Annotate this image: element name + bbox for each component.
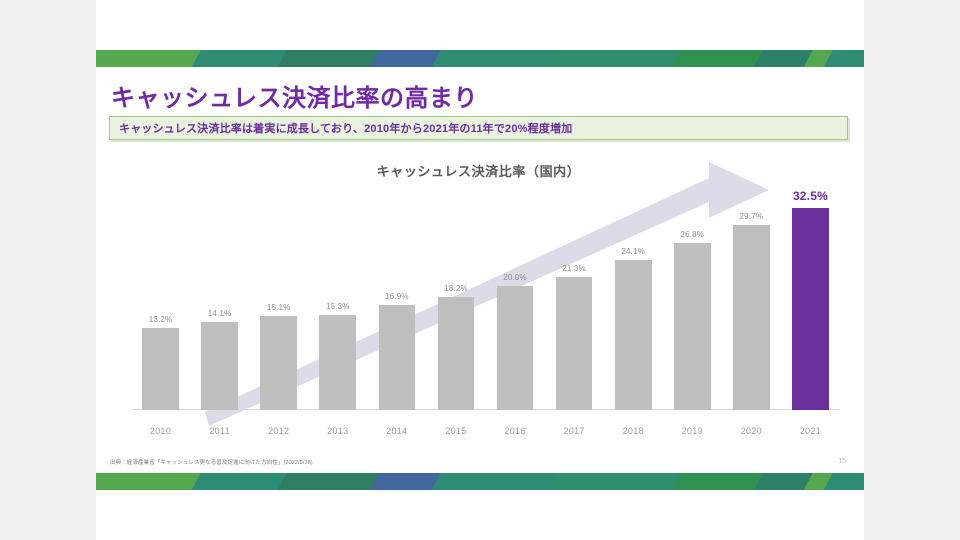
presentation-slide: キャッシュレス決済比率の高まり キャッシュレス決済比率は着実に成長しており、20… [96,0,864,540]
bar-value-label: 24.1% [621,247,645,256]
bar-rectangle [792,208,829,410]
bottom-decorative-banner [96,473,864,490]
x-axis-tick-label: 2021 [781,426,840,436]
chart-bar: 13.2% [142,158,179,410]
subtitle-callout-box: キャッシュレス決済比率は着実に成長しており、2010年から2021年の11年で2… [109,116,848,140]
chart-bar: 26.8% [674,158,711,410]
bar-value-label: 15.1% [267,303,291,312]
bar-rectangle [497,286,534,410]
banner-stripe [274,50,386,67]
x-axis-tick-label: 2011 [190,426,249,436]
chart-bar: 32.5% [792,158,829,410]
bar-value-label: 29.7% [740,212,764,221]
source-note: 出典：経済産業省「キャッシュレス更なる普及促進に向けた方向性」(2022/9/2… [110,458,313,466]
page-number: 15 [838,458,846,465]
bar-rectangle [201,322,238,410]
x-axis-tick-label: 2017 [545,426,604,436]
bar-rectangle [556,277,593,410]
bar-rectangle [379,305,416,410]
bar-rectangle [674,243,711,410]
chart-bar: 20.0% [497,158,534,410]
chart-bar: 15.1% [260,158,297,410]
banner-stripe [544,50,688,67]
top-decorative-banner [96,50,864,67]
chart-bar: 18.2% [438,158,475,410]
chart-bar: 24.1% [615,158,652,410]
screenshot-viewport: キャッシュレス決済比率の高まり キャッシュレス決済比率は着実に成長しており、20… [0,0,960,540]
banner-stripe [544,473,688,490]
bar-value-label: 32.5% [793,189,828,203]
x-axis-tick-label: 2020 [722,426,781,436]
bar-value-label: 18.2% [444,284,468,293]
bar-value-label: 13.2% [149,315,173,324]
bar-rectangle [142,328,179,410]
bar-value-label: 16.9% [385,292,409,301]
x-axis-tick-label: 2016 [486,426,545,436]
banner-stripe [274,473,386,490]
bar-value-label: 15.3% [326,302,350,311]
x-axis-tick-label: 2019 [663,426,722,436]
bar-rectangle [260,316,297,410]
banner-stripe [428,473,564,490]
bar-value-label: 20.0% [503,273,527,282]
chart-bar: 16.9% [379,158,416,410]
x-axis-tick-label: 2014 [367,426,426,436]
bar-rectangle [615,260,652,410]
x-axis-tick-label: 2013 [308,426,367,436]
chart-bar: 29.7% [733,158,770,410]
subtitle-text: キャッシュレス決済比率は着実に成長しており、2010年から2021年の11年で2… [119,120,572,136]
x-axis-tick-label: 2015 [426,426,485,436]
chart-bar: 15.3% [319,158,356,410]
bar-value-label: 21.3% [562,264,586,273]
bar-rectangle [438,297,475,410]
page-title: キャッシュレス決済比率の高まり [111,78,478,113]
banner-stripe [428,50,564,67]
x-axis-tick-label: 2018 [604,426,663,436]
chart-bar: 14.1% [201,158,238,410]
chart-bar: 21.3% [556,158,593,410]
bar-value-label: 14.1% [208,309,232,318]
x-axis-tick-label: 2010 [131,426,190,436]
bar-value-label: 26.8% [680,230,704,239]
bar-rectangle [733,225,770,410]
chart-plot-area: 13.2%14.1%15.1%15.3%16.9%18.2%20.0%21.3%… [131,158,840,410]
bar-rectangle [319,315,356,410]
bar-chart: キャッシュレス決済比率（国内） 13.2%14.1%15.1%15.3%16.9… [109,150,848,450]
x-axis-tick-label: 2012 [249,426,308,436]
